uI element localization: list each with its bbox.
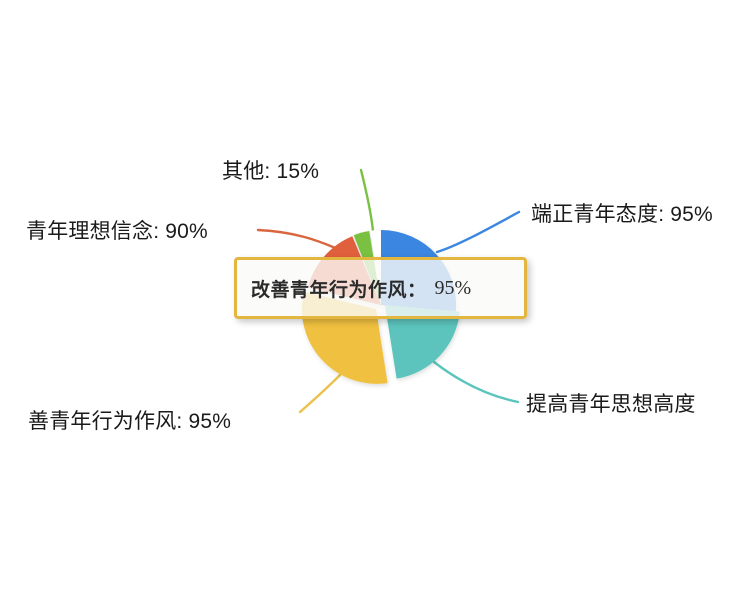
pie-label-other: 其他: 15% — [222, 159, 319, 185]
leader-line-other — [361, 170, 373, 231]
pie-label-ideal: 青年理想信念: 90% — [26, 219, 208, 245]
tooltip-series-name: 改善青年行为作风： — [251, 275, 427, 302]
pie-label-thought: 提高青年思想高度 — [526, 392, 696, 418]
pie-label-behavior: 善青年行为作风: 95% — [28, 409, 231, 435]
leader-line-thought — [434, 362, 518, 402]
leader-line-ideal — [258, 230, 338, 249]
leader-line-attitude — [437, 212, 519, 252]
pie-chart: 其他: 15% 青年理想信念: 90% 善青年行为作风: 95% 端正青年态度:… — [0, 0, 750, 590]
pie-label-attitude: 端正青年态度: 95% — [531, 202, 713, 228]
tooltip-series-value: 95% — [435, 277, 472, 300]
chart-tooltip: 改善青年行为作风： 95% — [234, 257, 527, 319]
leader-line-behavior — [300, 375, 340, 412]
